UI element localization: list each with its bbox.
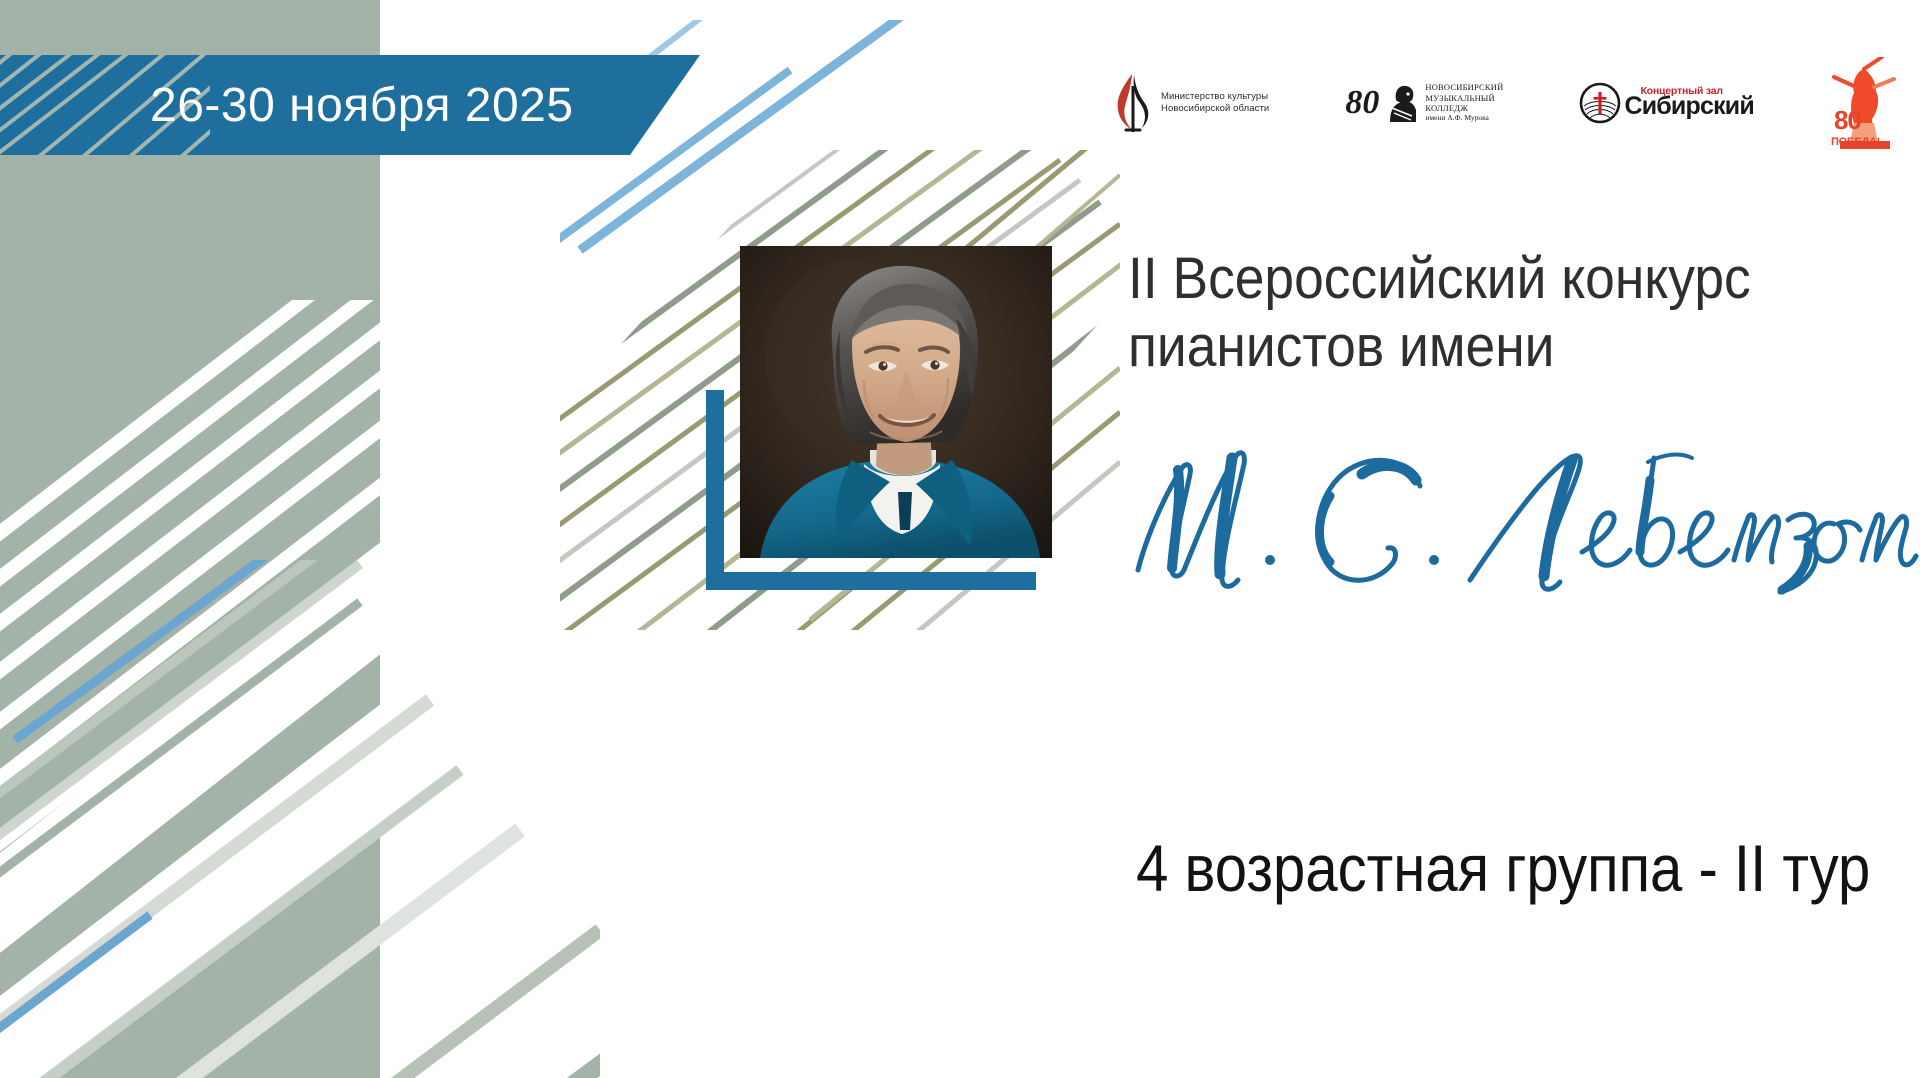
victory-number: 80	[1834, 107, 1861, 133]
sage-side-panel	[0, 0, 380, 1078]
competition-headline: II Всероссийский конкурс пианистов имени	[1128, 245, 1908, 382]
logo-novosibirsk-music-college: 80 НОВОСИБИРСКИЙ МУЗЫКАЛЬНЫЙ КОЛЛЕДЖ име…	[1345, 82, 1503, 124]
college-line-2: МУЗЫКАЛЬНЫЙ	[1425, 93, 1503, 103]
headline-line-2: пианистов имени	[1128, 313, 1846, 381]
victory-word: ПОБЕДА!	[1831, 137, 1880, 148]
logo-ministry-of-culture: Министерство культуры Новосибирской обла…	[1110, 72, 1269, 134]
college-line-3: КОЛЛЕДЖ	[1425, 103, 1503, 113]
college-line-4: имени А.Ф. Мурова	[1425, 113, 1503, 122]
poster-canvas: 26-30 ноября 2025	[0, 0, 1920, 1078]
ministry-flame-lyre-icon	[1110, 72, 1154, 134]
college-line-1: НОВОСИБИРСКИЙ	[1425, 82, 1503, 92]
college-anniversary-number: 80	[1345, 86, 1379, 120]
age-group-round-text: 4 возрастная группа - II тур	[1136, 830, 1870, 906]
concert-hall-emblem-icon	[1579, 82, 1621, 124]
logo-concert-hall-sibirsky: Концертный зал Сибирский	[1579, 82, 1753, 124]
ministry-line-2: Новосибирской области	[1161, 103, 1269, 115]
logo-victory-80: 80 ПОБЕДА!	[1830, 57, 1900, 149]
calligraphic-name-lebenzon	[1120, 420, 1920, 600]
ministry-line-1: Министерство культуры	[1161, 91, 1269, 103]
composer-portrait-icon	[1384, 82, 1420, 124]
date-ribbon: 26-30 ноября 2025	[0, 55, 700, 155]
concert-hall-name: Сибирский	[1624, 94, 1753, 119]
date-text: 26-30 ноября 2025	[150, 55, 574, 155]
partner-logos-row: Министерство культуры Новосибирской обла…	[1110, 55, 1900, 150]
headline-line-1: II Всероссийский конкурс	[1128, 245, 1846, 313]
portrait-photo	[740, 246, 1052, 558]
motherland-calls-statue-icon	[1830, 57, 1900, 149]
age-group-round-title: 4 возрастная группа - II тур	[0, 830, 1870, 906]
